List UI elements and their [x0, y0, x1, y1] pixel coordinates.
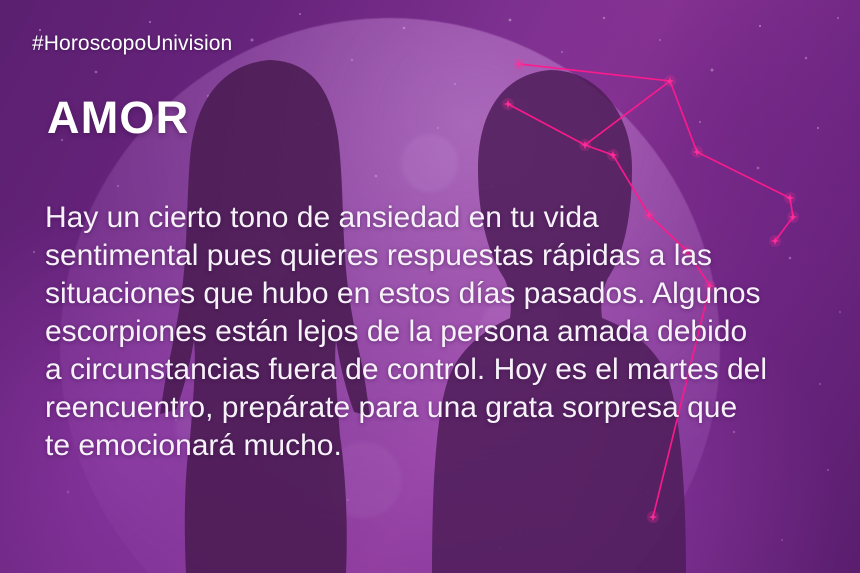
constellation-line-5 [697, 152, 790, 198]
body-line-0: Hay un cierto tono de ansiedad en tu vid… [45, 199, 845, 237]
body-line-4: a circunstancias fuera de control. Hoy e… [45, 351, 845, 389]
body-line-1: sentimental pues quieres respuestas rápi… [45, 237, 845, 275]
horoscope-card: #HoroscopoUnivision AMOR Hay un cierto t… [0, 0, 860, 573]
constellation-line-4 [670, 81, 697, 152]
hashtag-label: #HoroscopoUnivision [32, 32, 232, 56]
constellation-star-5 [691, 146, 703, 158]
horoscope-body-text: Hay un cierto tono de ansiedad en tu vid… [45, 199, 845, 465]
page-title: AMOR [47, 92, 189, 144]
body-line-5: reencuentro, prepárate para una grata so… [45, 389, 845, 427]
body-line-6: te emocionará mucho. [45, 427, 845, 465]
constellation-star-1 [664, 75, 676, 87]
body-line-3: escorpiones están lejos de la persona am… [45, 313, 845, 351]
body-line-2: situaciones que hubo en estos días pasad… [45, 275, 845, 313]
